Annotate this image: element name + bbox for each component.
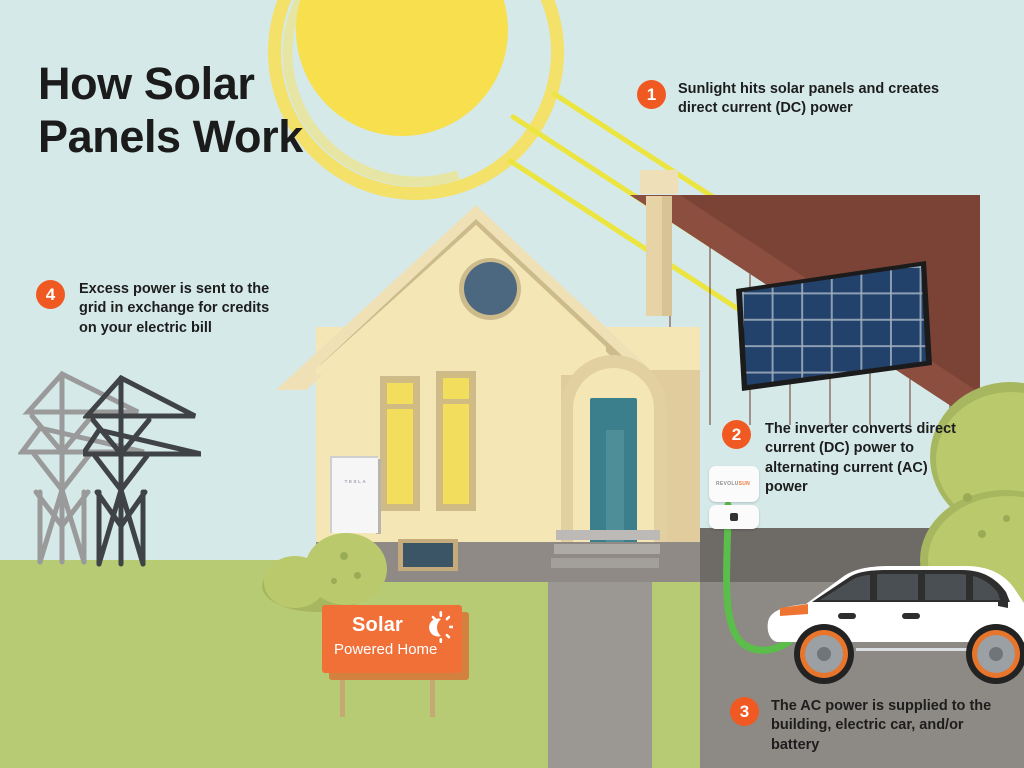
window-left-mullion — [383, 404, 417, 409]
basement-window-glass — [403, 543, 453, 567]
inverter-indicator-icon — [730, 513, 738, 521]
callout-step-4: 4 Excess power is sent to the grid in ex… — [36, 280, 276, 338]
window-right — [439, 374, 473, 508]
bush-left-large — [305, 533, 387, 605]
porch-step-3 — [551, 558, 659, 568]
bush-dot-r2 — [978, 530, 986, 538]
bush-dot-l1 — [340, 552, 348, 560]
infographic-canvas: TESLA REVOLUSUN — [0, 0, 1024, 768]
chimney-cap — [640, 170, 678, 194]
title-line-2: Panels Work — [38, 110, 458, 163]
bush-dot-l3 — [331, 578, 337, 584]
front-walkway — [548, 582, 652, 768]
callout-step-2: 2 The inverter converts direct current (… — [722, 420, 972, 497]
solar-powered-home-sign: Solar Powered Home — [322, 605, 462, 673]
step-badge-1: 1 — [637, 80, 666, 109]
front-door-highlight — [606, 430, 624, 544]
title-line-1: How Solar — [38, 57, 458, 110]
window-right-mullion — [439, 399, 473, 404]
step-badge-4: 4 — [36, 280, 65, 309]
step-text-3: The AC power is supplied to the building… — [771, 697, 1000, 755]
tesla-powerwall-battery — [330, 456, 378, 533]
step-badge-2: 2 — [722, 420, 751, 449]
porch-step-2 — [554, 544, 660, 554]
sun-icon — [415, 611, 453, 643]
page-title: How Solar Panels Work — [38, 57, 458, 163]
electric-car — [760, 556, 1024, 684]
step-text-1: Sunlight hits solar panels and creates d… — [678, 80, 967, 119]
power-tower-dark — [83, 372, 201, 568]
step-text-2: The inverter converts direct current (DC… — [765, 420, 972, 497]
chimney-shade — [662, 196, 672, 316]
step-badge-3: 3 — [730, 697, 759, 726]
bush-dot-l2 — [354, 572, 361, 579]
bush-dot-r3 — [1003, 515, 1010, 522]
step-text-4: Excess power is sent to the grid in exch… — [79, 280, 276, 338]
sign-headline: Solar — [352, 614, 403, 637]
sign-subline: Powered Home — [334, 641, 437, 658]
callout-step-1: 1 Sunlight hits solar panels and creates… — [637, 80, 967, 119]
round-window-glass — [464, 262, 517, 315]
porch-step-1 — [556, 530, 660, 540]
callout-step-3: 3 The AC power is supplied to the buildi… — [730, 697, 1000, 755]
window-left — [383, 379, 417, 508]
tesla-logo-text: TESLA — [336, 479, 376, 484]
